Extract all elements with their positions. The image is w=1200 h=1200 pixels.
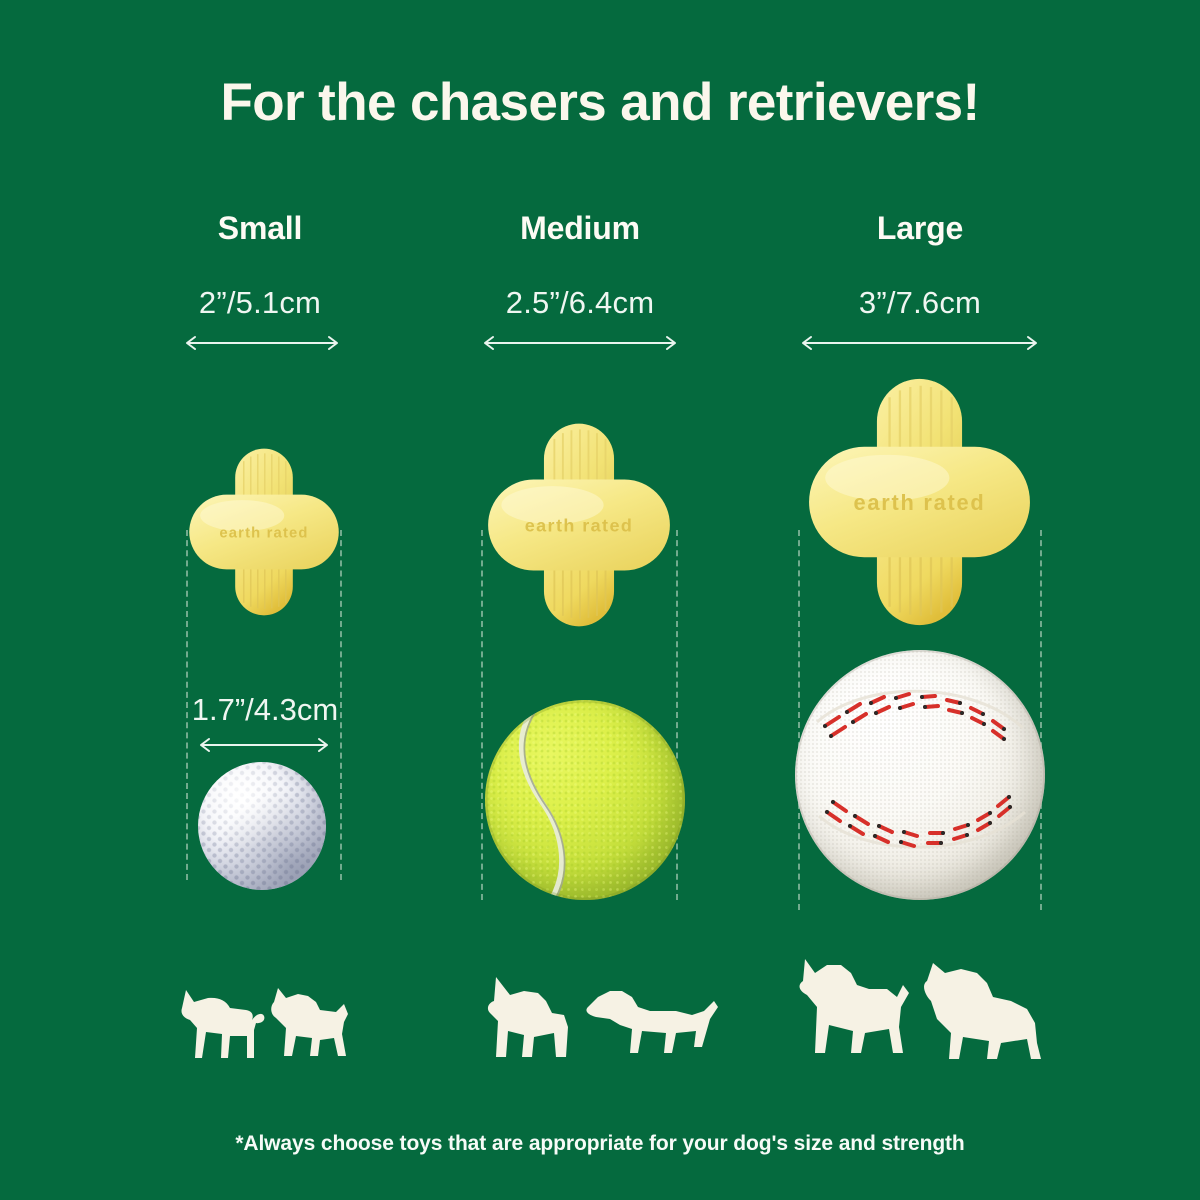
chihuahua-icon <box>181 990 264 1058</box>
column-heading-large: Large <box>770 210 1070 247</box>
baseball-stitching <box>795 650 1045 900</box>
french-bulldog-icon <box>488 977 568 1057</box>
column-heading-small: Small <box>110 210 410 247</box>
toy-measurement-large: 3”/7.6cm <box>770 285 1070 321</box>
boxer-icon <box>800 959 909 1053</box>
dog-group-large <box>785 945 1055 1070</box>
tennis-ball <box>485 700 685 900</box>
baseball <box>795 650 1045 900</box>
golf-ball-shading <box>198 762 326 890</box>
ball-measurement-small: 1.7”/4.3cm <box>150 692 380 728</box>
toy-large: earth rated <box>798 372 1041 632</box>
toy-brand-emboss-medium: earth rated <box>525 516 634 536</box>
toy-medium: earth rated <box>481 418 677 632</box>
dachshund-icon <box>586 991 718 1053</box>
dog-group-small <box>168 970 358 1070</box>
toy-body-large: earth rated <box>809 447 1030 557</box>
dog-group-medium <box>480 965 720 1070</box>
measure-arrow-large <box>798 334 1041 356</box>
tennis-ball-seam <box>485 700 685 900</box>
page-title: For the chasers and retrievers! <box>0 72 1200 133</box>
infographic-canvas: For the chasers and retrievers! Small Me… <box>0 0 1200 1200</box>
measure-arrow-small <box>182 334 342 356</box>
toy-small: earth rated <box>186 444 342 620</box>
toy-brand-emboss-large: earth rated <box>854 490 986 515</box>
measure-arrow-medium <box>480 334 680 356</box>
measure-arrow-golfball <box>196 736 332 758</box>
disclaimer-text: *Always choose toys that are appropriate… <box>0 1132 1200 1156</box>
golf-ball <box>198 762 326 890</box>
toy-brand-emboss-small: earth rated <box>219 525 308 541</box>
toy-measurement-small: 2”/5.1cm <box>110 285 410 321</box>
toy-body-medium: earth rated <box>488 480 670 571</box>
column-heading-medium: Medium <box>430 210 730 247</box>
retriever-icon <box>924 963 1041 1059</box>
terrier-icon <box>271 988 348 1056</box>
toy-body-small: earth rated <box>189 495 339 570</box>
toy-measurement-medium: 2.5”/6.4cm <box>430 285 730 321</box>
